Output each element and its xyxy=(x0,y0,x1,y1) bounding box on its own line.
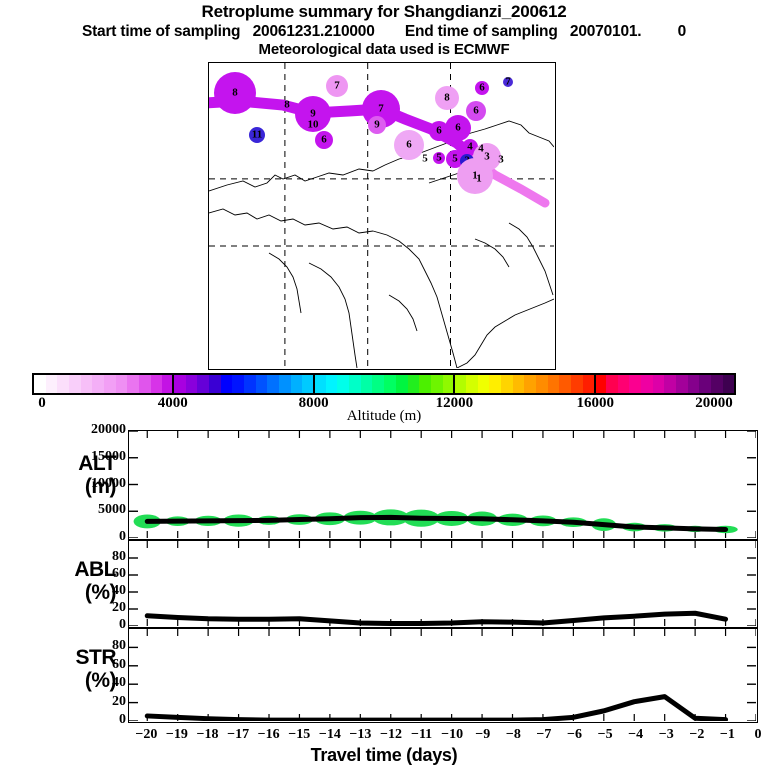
plume-blob-label: 6 xyxy=(479,83,485,94)
colorbar-swatch xyxy=(419,375,431,393)
colorbar-swatch xyxy=(209,375,221,393)
plume-blob-label: 7 xyxy=(505,77,511,88)
plume-blob-label: 4 xyxy=(467,142,473,153)
colorbar-separator xyxy=(594,373,596,395)
colorbar-swatch xyxy=(291,375,303,393)
colorbar-swatch xyxy=(314,375,326,393)
plume-blob-label: 7 xyxy=(378,104,384,115)
colorbar-swatch xyxy=(524,375,536,393)
x-tick-label: −7 xyxy=(536,727,551,743)
x-tick-label: −19 xyxy=(166,727,188,743)
plume-blob-label: 5 xyxy=(436,153,442,164)
colorbar-separator xyxy=(313,373,315,395)
str-axis-label-line1: STR xyxy=(4,646,116,669)
colorbar-swatch xyxy=(186,375,198,393)
abl-axis-label: ABL (%) xyxy=(4,558,116,604)
x-tick-label: −4 xyxy=(628,727,643,743)
y-tick-label: 20 xyxy=(112,600,126,616)
colorbar-separator xyxy=(172,373,174,395)
plume-blob-label: 1 xyxy=(476,174,482,185)
plume-blob-label: 8 xyxy=(232,88,238,99)
retroplume-figure: Retroplume summary for Shangdianzi_20061… xyxy=(0,0,768,768)
colorbar-swatch xyxy=(571,375,583,393)
str-line xyxy=(147,697,725,720)
colorbar-swatch xyxy=(676,375,688,393)
colorbar-swatch xyxy=(174,375,186,393)
colorbar-swatch xyxy=(641,375,653,393)
plume-blob-label: 6 xyxy=(436,126,442,137)
colorbar-swatch xyxy=(548,375,560,393)
plume-blob-label: 6 xyxy=(406,140,412,151)
y-tick-label: 10000 xyxy=(91,476,126,492)
plume-blob-label: 10 xyxy=(308,120,319,131)
colorbar-swatch xyxy=(349,375,361,393)
colorbar-swatch xyxy=(653,375,665,393)
colorbar-swatch xyxy=(361,375,373,393)
abl-axis-label-line2: (%) xyxy=(4,581,116,604)
colorbar-swatch xyxy=(34,375,46,393)
colorbar-swatch xyxy=(723,375,735,393)
str-axis-label: STR (%) xyxy=(4,646,116,692)
str-panel xyxy=(128,628,758,723)
y-tick-label: 40 xyxy=(112,583,126,599)
abl-line xyxy=(147,613,725,623)
end-time-extra: 0 xyxy=(678,23,686,40)
x-tick-labels: −20−19−18−17−16−15−14−13−12−11−10−9−8−7−… xyxy=(0,727,768,745)
y-tick-label: 20000 xyxy=(91,422,126,438)
x-tick-label: −6 xyxy=(567,727,582,743)
colorbar-swatch xyxy=(116,375,128,393)
plume-blob-label: 11 xyxy=(252,130,262,141)
colorbar-swatch xyxy=(396,375,408,393)
colorbar-swatch xyxy=(256,375,268,393)
altitude-colorbar xyxy=(32,373,736,395)
colorbar-swatch xyxy=(104,375,116,393)
y-tick-label: 40 xyxy=(112,675,126,691)
colorbar-swatch xyxy=(81,375,93,393)
plume-blob-label: 8 xyxy=(284,100,290,111)
colorbar-swatch xyxy=(232,375,244,393)
colorbar-swatch xyxy=(151,375,163,393)
page-title: Retroplume summary for Shangdianzi_20061… xyxy=(0,2,768,22)
alt-panel xyxy=(128,430,758,540)
y-tick-label: 80 xyxy=(112,549,126,565)
plume-blob-label: 7 xyxy=(334,81,340,92)
colorbar-swatch xyxy=(478,375,490,393)
plume-blob-label: 6 xyxy=(455,123,461,134)
x-tick-label: 0 xyxy=(755,727,762,743)
colorbar-swatch xyxy=(454,375,466,393)
colorbar-swatch xyxy=(221,375,233,393)
plume-blob-label: 6 xyxy=(473,106,479,117)
y-tick-label: 5000 xyxy=(98,502,126,518)
y-tick-label: 0 xyxy=(119,529,126,545)
colorbar-swatch xyxy=(279,375,291,393)
colorbar-swatch xyxy=(267,375,279,393)
colorbar-swatch xyxy=(69,375,81,393)
colorbar-swatch xyxy=(139,375,151,393)
abl-axis-label-line1: ABL xyxy=(4,558,116,581)
y-tick-label: 20 xyxy=(112,694,126,710)
colorbar-swatch xyxy=(57,375,69,393)
colorbar-swatch xyxy=(372,375,384,393)
colorbar-swatch xyxy=(337,375,349,393)
y-tick-label: 60 xyxy=(112,566,126,582)
colorbar-separator xyxy=(453,373,455,395)
plume-blob-label: 6 xyxy=(321,135,327,146)
x-tick-label: −9 xyxy=(475,727,490,743)
title-block: Retroplume summary for Shangdianzi_20061… xyxy=(0,0,768,59)
x-tick-label: −5 xyxy=(598,727,613,743)
colorbar-swatch xyxy=(197,375,209,393)
met-data-line: Meteorological data used is ECMWF xyxy=(0,41,768,59)
colorbar-swatch xyxy=(489,375,501,393)
colorbar-swatch xyxy=(606,375,618,393)
colorbar-swatch xyxy=(466,375,478,393)
colorbar-swatch xyxy=(384,375,396,393)
colorbar-swatch xyxy=(46,375,58,393)
colorbar-swatch xyxy=(559,375,571,393)
retroplume-map: 8879101167986766665453215341 xyxy=(208,62,556,370)
plume-blob-label: 8 xyxy=(444,93,450,104)
end-time-label: End time of sampling xyxy=(405,23,558,40)
colorbar-swatch xyxy=(688,375,700,393)
x-tick-label: −10 xyxy=(441,727,463,743)
colorbar-swatch xyxy=(699,375,711,393)
start-time-value: 20061231.210000 xyxy=(253,23,375,40)
x-tick-label: −12 xyxy=(380,727,402,743)
plume-blob-label: 3 xyxy=(498,155,504,166)
plume-blob-label: 5 xyxy=(422,154,428,165)
colorbar-swatch xyxy=(513,375,525,393)
plume-blob-label: 9 xyxy=(374,120,380,131)
colorbar-swatch xyxy=(431,375,443,393)
plume-blob-label: 4 xyxy=(478,144,484,155)
colorbar-swatch xyxy=(711,375,723,393)
colorbar-swatch xyxy=(244,375,256,393)
colorbar-swatch xyxy=(326,375,338,393)
colorbar-swatch xyxy=(127,375,139,393)
x-tick-label: −13 xyxy=(349,727,371,743)
x-tick-label: −15 xyxy=(288,727,310,743)
x-tick-label: −18 xyxy=(197,727,219,743)
colorbar-swatch xyxy=(664,375,676,393)
y-tick-label: 60 xyxy=(112,657,126,673)
colorbar-swatch xyxy=(629,375,641,393)
start-time-label: Start time of sampling xyxy=(82,23,240,40)
plume-blob-label: 5 xyxy=(452,154,458,165)
sampling-time-line: Start time of sampling 20061231.210000 E… xyxy=(0,22,768,41)
colorbar-swatch xyxy=(501,375,513,393)
x-tick-label: −14 xyxy=(319,727,341,743)
y-tick-label: 15000 xyxy=(91,449,126,465)
end-time-value: 20070101. xyxy=(570,23,641,40)
colorbar-swatch xyxy=(618,375,630,393)
x-tick-label: −16 xyxy=(258,727,280,743)
y-tick-label: 0 xyxy=(119,617,126,633)
x-tick-label: −1 xyxy=(720,727,735,743)
x-tick-label: −20 xyxy=(135,727,157,743)
abl-panel xyxy=(128,540,758,628)
x-tick-label: −2 xyxy=(689,727,704,743)
y-tick-label: 80 xyxy=(112,638,126,654)
colorbar-swatch xyxy=(408,375,420,393)
x-axis-title: Travel time (days) xyxy=(0,745,768,766)
colorbar-swatch xyxy=(92,375,104,393)
colorbar-swatch xyxy=(536,375,548,393)
y-tick-label: 0 xyxy=(119,712,126,728)
x-tick-label: −8 xyxy=(506,727,521,743)
colorbar-swatch xyxy=(583,375,595,393)
x-tick-label: −11 xyxy=(411,727,432,743)
str-axis-label-line2: (%) xyxy=(4,669,116,692)
x-tick-label: −3 xyxy=(659,727,674,743)
x-tick-label: −17 xyxy=(227,727,249,743)
